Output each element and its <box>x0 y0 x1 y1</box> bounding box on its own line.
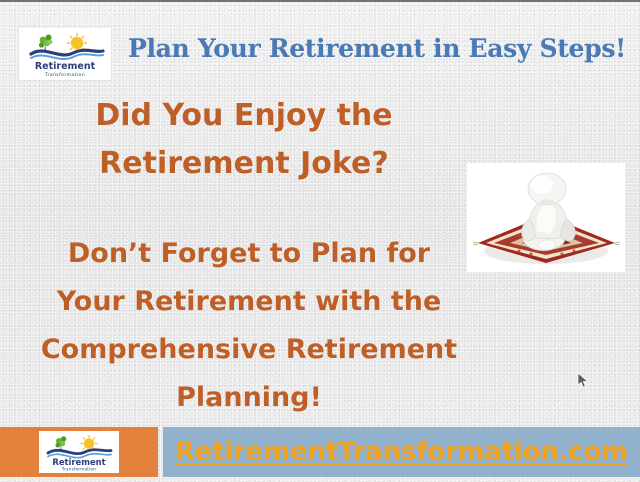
svg-text:Transformation: Transformation <box>61 467 96 472</box>
headline-cta-line-2: Your Retirement with the <box>14 278 484 326</box>
page-title: Plan Your Retirement in Easy Steps! <box>122 34 632 63</box>
headline-question-line-1: Did You Enjoy the <box>24 92 464 140</box>
header-logo: Retirement Transformation <box>19 28 111 80</box>
svg-text:Transformation: Transformation <box>44 72 85 78</box>
footer-logo-box: Retirement Transformation <box>0 427 158 477</box>
presentation-slide: Retirement Transformation Plan Your Reti… <box>0 0 640 482</box>
website-url-link[interactable]: RetirementTransformation.com <box>175 437 628 467</box>
headline-question: Did You Enjoy the Retirement Joke? <box>24 92 464 188</box>
retirement-transformation-logo-icon: Retirement Transformation <box>19 28 111 80</box>
headline-call-to-action: Don’t Forget to Plan for Your Retirement… <box>14 230 484 422</box>
meditating-figure-on-rug-image <box>467 163 625 272</box>
footer-url-bar[interactable]: RetirementTransformation.com <box>163 427 640 477</box>
svg-text:Retirement: Retirement <box>35 61 96 72</box>
footer-logo: Retirement Transformation <box>39 431 119 473</box>
headline-cta-line-3: Comprehensive Retirement <box>14 326 484 374</box>
headline-question-line-2: Retirement Joke? <box>24 140 464 188</box>
meditation-illustration <box>467 163 625 272</box>
headline-cta-line-4: Planning! <box>14 374 484 422</box>
retirement-transformation-logo-icon: Retirement Transformation <box>39 431 119 473</box>
svg-text:Retirement: Retirement <box>52 457 105 467</box>
headline-cta-line-1: Don’t Forget to Plan for <box>14 230 484 278</box>
